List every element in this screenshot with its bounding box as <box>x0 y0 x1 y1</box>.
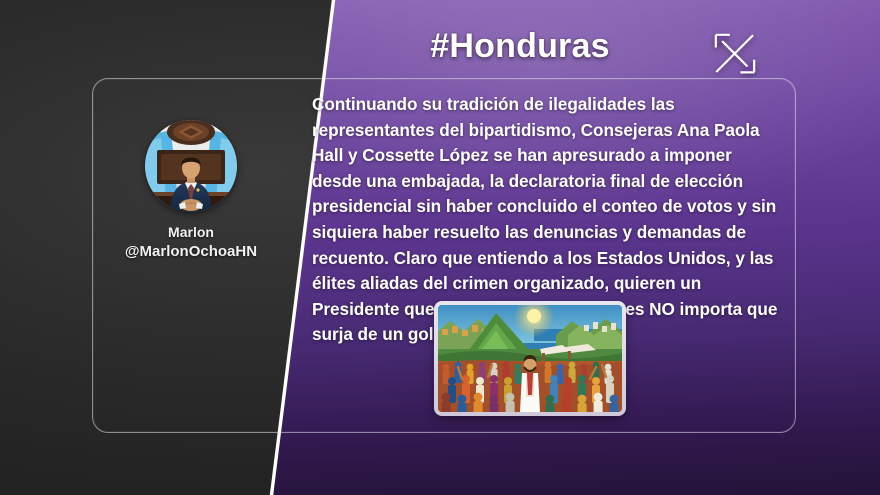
tweet-media-image <box>438 305 622 412</box>
broadcast-lower-third: #Honduras <box>0 0 880 495</box>
author-display-name: Marlon <box>110 223 272 242</box>
x-twitter-logo-icon <box>712 31 758 77</box>
author-handle: @MarlonOchoaHN <box>110 242 272 262</box>
page-title: #Honduras <box>360 27 680 66</box>
tweet-author: Marlon @MarlonOchoaHN <box>110 120 272 262</box>
avatar <box>145 120 237 212</box>
tweet-media[interactable] <box>434 301 626 416</box>
